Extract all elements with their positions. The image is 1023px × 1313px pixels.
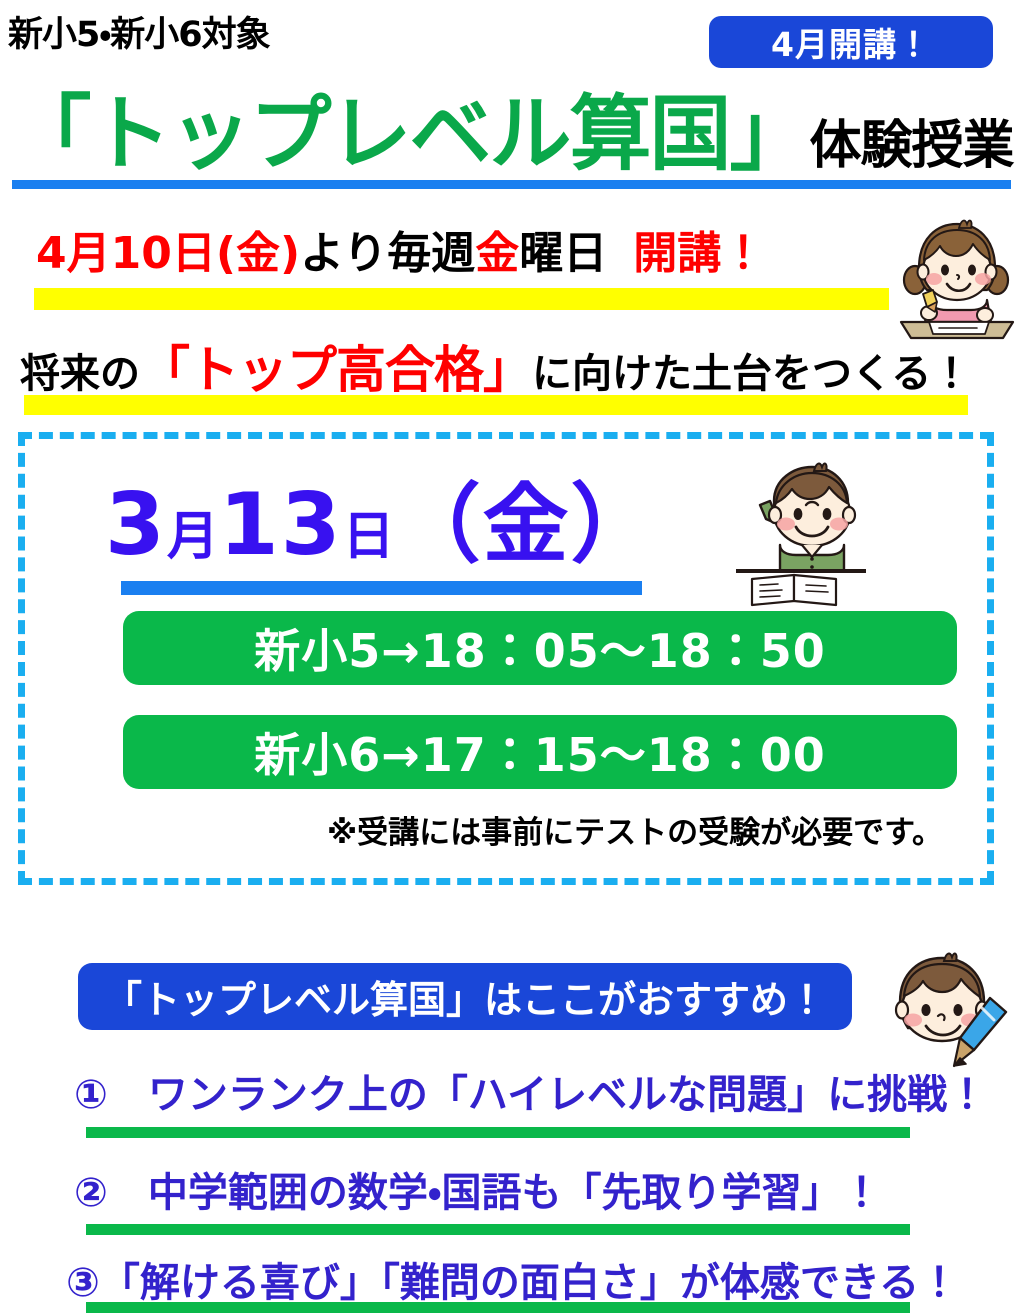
course-name: 「トップレベル算国」: [9, 94, 809, 176]
friday-kanji: 金: [475, 228, 519, 279]
goal-prefix: 将来の: [20, 351, 140, 397]
trial-date-month: 3: [105, 475, 167, 575]
title-divider: [12, 180, 1011, 189]
time-slot-grade5: 新小5→18：05～18：50: [123, 611, 957, 685]
kaikou-text: 開講！: [633, 228, 765, 279]
boy-raising-hand-illustration: [730, 459, 870, 607]
weekly-text: より毎週: [300, 228, 475, 279]
start-date-text: 4月10日(金): [36, 228, 300, 279]
trial-date-month-unit: 月: [167, 507, 219, 567]
time-slot-grade6: 新小6→17：15～18：00: [123, 715, 957, 789]
trial-note: ※受講には事前にテストの受験が必要です。: [25, 807, 943, 852]
course-subtitle: 体験授業: [810, 120, 1014, 176]
trial-date-underline: [121, 581, 642, 595]
goal-suffix: に向けた土台をつくる！: [532, 351, 971, 397]
recommend-banner: 「トップレベル算国」はここがおすすめ！: [78, 963, 852, 1030]
trial-date-day-unit: 日: [343, 507, 395, 567]
girl-writing-illustration: [893, 212, 1021, 340]
main-title: 「トップレベル算国」 体験授業: [0, 80, 1023, 176]
list-divider-1: [86, 1127, 910, 1138]
list-divider-3: [86, 1302, 910, 1313]
weekday-text: 曜日: [519, 228, 607, 279]
trial-date-weekday: （金）: [395, 475, 659, 575]
header-row: 新小5・新小6対象 4月開講！: [0, 0, 1023, 76]
goal-emphasis: 「トップ高合格」: [140, 341, 532, 399]
goal-line: 将来の「トップ高合格」に向けた土台をつくる！: [20, 345, 971, 395]
april-start-badge: 4月開講！: [709, 16, 993, 68]
trial-date: 3月13日（金）: [105, 482, 659, 568]
recommend-item-2: ② 中学範囲の数学・国語も「先取り学習」！: [74, 1173, 881, 1213]
recommend-item-1: ① ワンランク上の「ハイレベルな問題」に挑戦！: [74, 1075, 987, 1115]
highlight-bar-1: [34, 288, 889, 310]
audience-label: 新小5・新小6対象: [8, 6, 270, 57]
start-date-line: 4月10日(金)より毎週金曜日開講！: [36, 232, 765, 276]
list-divider-2: [86, 1224, 910, 1235]
recommend-item-3: ③「解ける喜び」「難問の面白さ」が体感できる！: [66, 1263, 959, 1303]
flyer-page: 新小5・新小6対象 4月開講！ 「トップレベル算国」 体験授業 4月10日(金)…: [0, 0, 1023, 1307]
trial-date-day: 13: [219, 475, 343, 575]
trial-lesson-box: 3月13日（金） 新小5→18：05～18：50 新小6→17：15～18：00…: [18, 432, 994, 885]
boy-with-pencil-illustration: [882, 950, 1022, 1078]
